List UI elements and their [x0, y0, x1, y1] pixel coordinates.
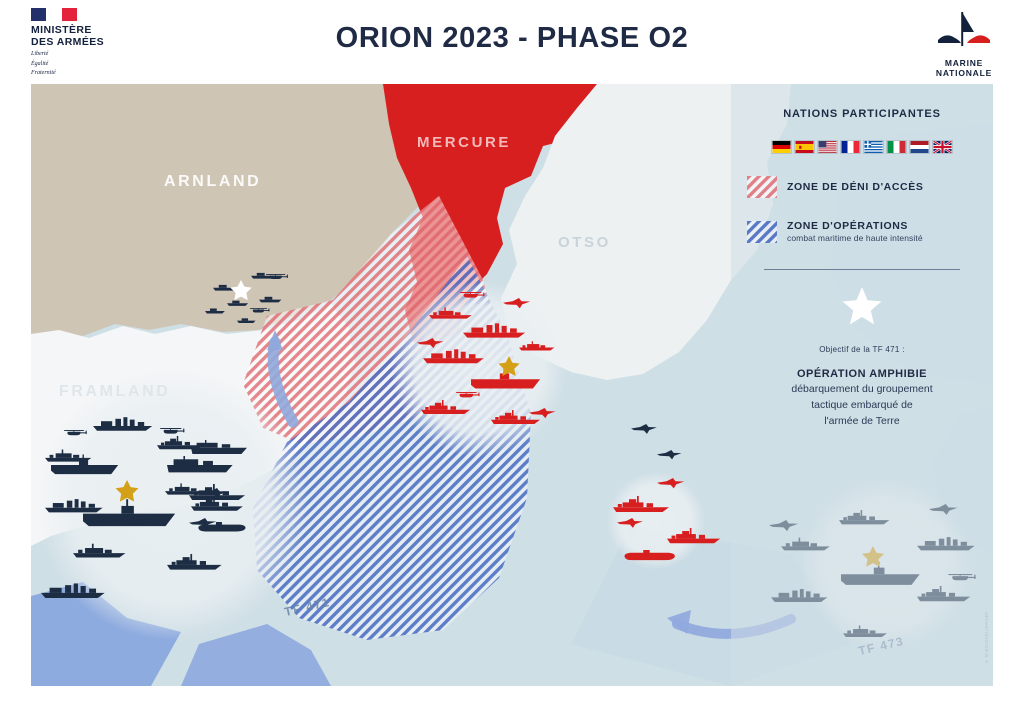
flag-greece-icon [863, 140, 884, 154]
objective-prefix: Objectif de la TF 471 : [747, 345, 977, 354]
ministry-motto-egalite: Égalité [31, 61, 123, 68]
marine-anchor-sail-icon [928, 10, 1000, 54]
halo-red-main [391, 281, 567, 457]
flag-united-kingdom-icon [932, 140, 953, 154]
header-bar: MINISTÈRE DES ARMÉES Liberté Égalité Fra… [0, 0, 1024, 84]
objective-description-line2: tactique embarqué de [747, 398, 977, 412]
participating-nations-flags [747, 140, 977, 154]
french-flag-icon [31, 8, 77, 21]
flag-usa-icon [817, 140, 838, 154]
denial-zone-swatch-icon [747, 176, 777, 198]
objective-title: OPÉRATION AMPHIBIE [747, 368, 977, 380]
infographic-page: MINISTÈRE DES ARMÉES Liberté Égalité Fra… [0, 0, 1024, 713]
page-title: ORION 2023 - PHASE O2 [0, 22, 1024, 55]
objective-description-line1: débarquement du groupement [747, 382, 977, 396]
legend-zone-operations: ZONE D'OPÉRATIONS combat maritime de hau… [747, 220, 977, 243]
flag-germany-icon [771, 140, 792, 154]
operations-map: ARNLAND FRAMLAND MERCURE OTSO TF 471 TF … [31, 84, 993, 686]
objective-description-line3: l'armée de Terre [747, 414, 977, 428]
objective-star-marker [747, 286, 977, 331]
flag-spain-icon [794, 140, 815, 154]
legend-zone-denial: ZONE DE DÉNI D'ACCÈS [747, 176, 977, 198]
marine-logo-line2: NATIONALE [928, 69, 1000, 79]
denial-zone-label: ZONE DE DÉNI D'ACCÈS [787, 181, 923, 193]
legend-panel: NATIONS PARTICIPANTES [731, 84, 993, 686]
marine-nationale-logo: MARINE NATIONALE [928, 10, 1000, 72]
flag-france-icon [840, 140, 861, 154]
legend-divider [764, 269, 960, 270]
operations-zone-label: ZONE D'OPÉRATIONS [787, 220, 923, 232]
ministry-motto-fraternite: Fraternité [31, 70, 123, 77]
legend-nations-title: NATIONS PARTICIPANTES [747, 108, 977, 120]
star-icon [841, 286, 883, 326]
flag-italy-icon [886, 140, 907, 154]
flag-netherlands-icon [909, 140, 930, 154]
operations-zone-sublabel: combat maritime de haute intensité [787, 233, 923, 243]
operations-zone-swatch-icon [747, 221, 777, 243]
